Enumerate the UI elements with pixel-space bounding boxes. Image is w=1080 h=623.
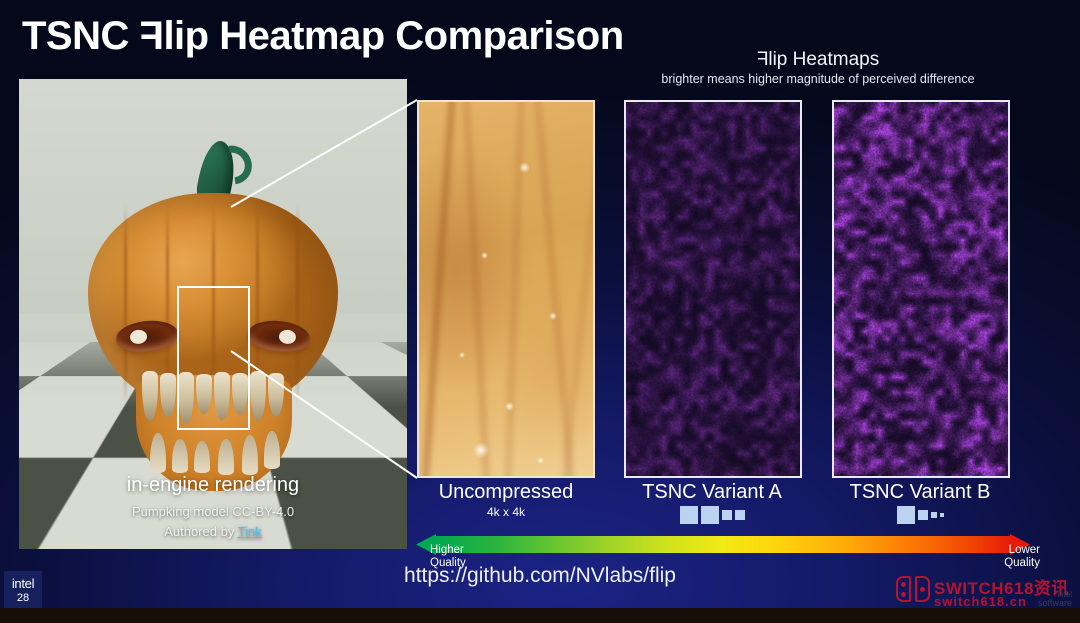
mip-square-2: [722, 510, 732, 520]
mip-square-0: [897, 506, 915, 524]
label-variant-b: TSNC Variant B: [820, 481, 1020, 504]
sublabel-uncompressed: 4k x 4k: [406, 505, 606, 519]
label-variant-a: TSNC Variant A: [612, 481, 812, 504]
render-credit-line-1: Pumpking model CC-BY-4.0: [19, 504, 407, 519]
panel-variant-b-heatmap[interactable]: [832, 100, 1010, 478]
heatmap-b-canvas: [834, 102, 1008, 476]
intel-wordmark: intel: [12, 576, 34, 591]
mirrored-f-glyph-heading: F: [757, 49, 769, 71]
heatmaps-heading-text: lip Heatmaps: [768, 49, 879, 70]
slide-number: 28: [17, 592, 29, 604]
quality-gradient-arrow: [416, 534, 1030, 556]
mip-square-1: [918, 510, 928, 520]
mirrored-f-glyph: F: [140, 14, 164, 59]
site-watermark: SWITCH618资讯 switch618.cn intel software …: [894, 572, 1074, 608]
slide-canvas: TSNC Flip Heatmap Comparison Flip Heatma…: [0, 0, 1080, 608]
mip-square-3: [940, 513, 944, 517]
in-engine-render-panel: in-engine rendering Pumpking model CC-BY…: [19, 79, 407, 549]
credit-prefix: Authored by: [164, 524, 237, 539]
heatmap-a-canvas: [626, 102, 800, 476]
watermark-line-2: switch618.cn: [934, 594, 1027, 608]
joycon-icon: [896, 576, 930, 602]
heatmaps-heading: Flip Heatmaps: [636, 49, 1000, 71]
mip-square-1: [701, 506, 719, 524]
bottom-letterbox-band: [0, 608, 1080, 623]
page-title: TSNC Flip Heatmap Comparison: [22, 14, 624, 59]
zoom-region-highlight-box: [177, 286, 250, 430]
wm-intel-software: software: [1037, 599, 1072, 608]
intel-software-mark: intel software DEVCLOUD: [1037, 590, 1072, 608]
render-caption: in-engine rendering: [19, 474, 407, 497]
panel-uncompressed[interactable]: [417, 100, 595, 478]
render-credit-line-2: Authored by Tink: [19, 524, 407, 539]
mip-chain-variant-a: [612, 506, 812, 524]
title-rest: lip Heatmap Comparison: [163, 14, 623, 58]
label-uncompressed: Uncompressed: [406, 481, 606, 504]
author-link[interactable]: Tink: [238, 524, 262, 539]
mip-chain-variant-b: [820, 506, 1020, 524]
panel-variant-a-heatmap[interactable]: [624, 100, 802, 478]
title-prefix: TSNC: [22, 14, 140, 58]
mip-square-3: [735, 510, 745, 520]
intel-logo-badge: intel 28: [4, 571, 42, 608]
heatmaps-subtitle: brighter means higher magnitude of perce…: [600, 72, 1036, 86]
mip-square-0: [680, 506, 698, 524]
quality-gradient-bar: [434, 536, 1012, 553]
mip-square-2: [931, 512, 937, 518]
